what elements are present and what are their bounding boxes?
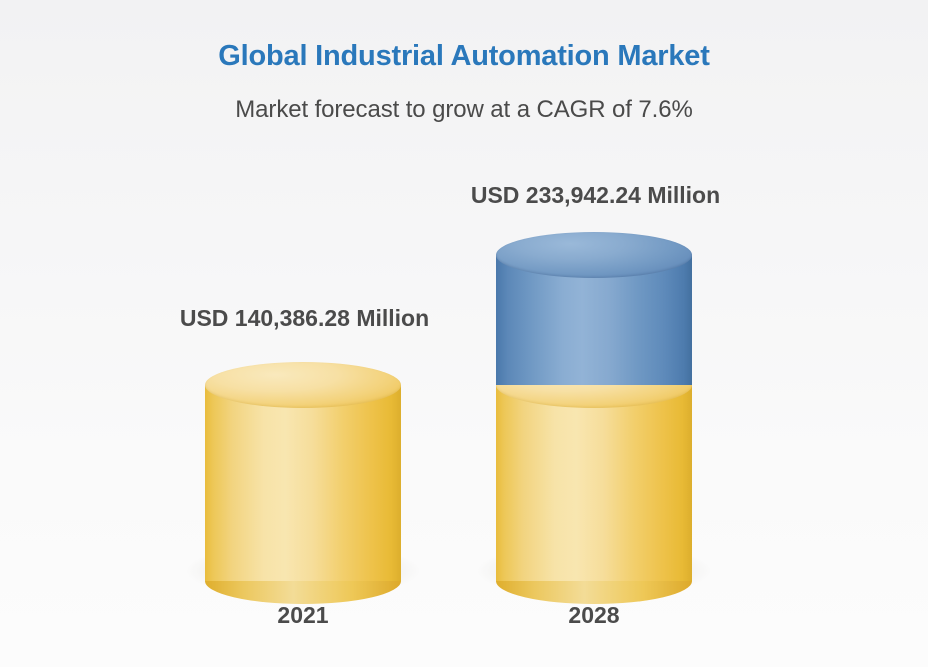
bar-value-label-2028: USD 233,942.24 Million (403, 182, 788, 209)
bar-2021 (205, 362, 401, 582)
bar-segment-2028-base (496, 362, 692, 582)
category-label-2021: 2021 (205, 602, 401, 629)
bar-top-cap-2021 (205, 362, 401, 408)
bar-segment-2021-base (205, 362, 401, 582)
chart-canvas: Global Industrial Automation Market Mark… (0, 0, 928, 667)
chart-subtitle: Market forecast to grow at a CAGR of 7.6… (0, 96, 928, 124)
bar-body-2021 (205, 385, 401, 581)
bar-segment-2028-growth (496, 232, 692, 385)
bar-2028 (496, 232, 692, 582)
bar-value-label-2021: USD 140,386.28 Million (112, 305, 497, 332)
bar-body-2028-base (496, 385, 692, 581)
bar-top-cap-2028 (496, 232, 692, 278)
page-title: Global Industrial Automation Market (0, 40, 928, 73)
category-label-2028: 2028 (496, 602, 692, 629)
